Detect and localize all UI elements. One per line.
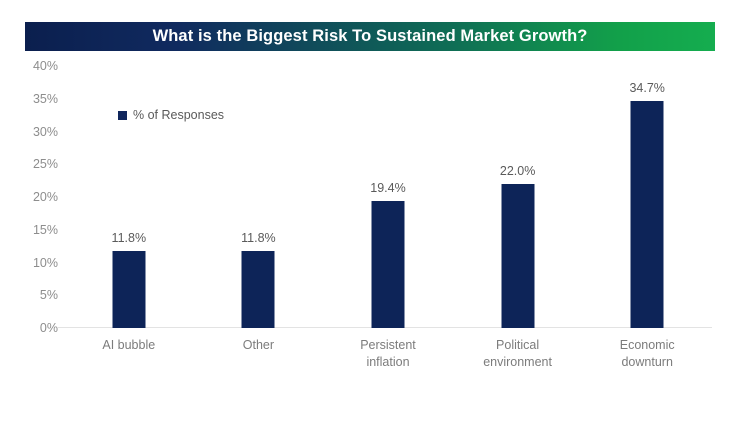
bar-group: 11.8% xyxy=(64,66,194,328)
bar-value-label: 11.8% xyxy=(112,231,147,245)
chart-title-banner: What is the Biggest Risk To Sustained Ma… xyxy=(25,22,715,51)
x-axis-category-label: Politicalenvironment xyxy=(453,337,583,371)
bar-value-label: 11.8% xyxy=(241,231,276,245)
y-axis-tick-label: 30% xyxy=(18,125,58,139)
bar[interactable] xyxy=(631,101,664,328)
y-axis-tick-label: 20% xyxy=(18,190,58,204)
bar-group: 34.7% xyxy=(582,66,712,328)
y-axis-tick-label: 5% xyxy=(18,288,58,302)
chart-legend: % of Responses xyxy=(118,108,224,122)
x-axis-label-line: Other xyxy=(194,337,324,354)
bar[interactable] xyxy=(112,251,145,328)
y-axis-tick-label: 40% xyxy=(18,59,58,73)
y-axis-tick-label: 25% xyxy=(18,157,58,171)
x-axis-category-label: Other xyxy=(194,337,324,354)
x-axis-category-label: AI bubble xyxy=(64,337,194,354)
y-axis-tick-label: 0% xyxy=(18,321,58,335)
x-axis: AI bubbleOtherPersistentinflationPolitic… xyxy=(64,337,712,397)
bar-group: 22.0% xyxy=(453,66,583,328)
x-axis-label-line: environment xyxy=(453,354,583,371)
x-axis-label-line: downturn xyxy=(582,354,712,371)
x-axis-label-line: Economic xyxy=(582,337,712,354)
legend-swatch-icon xyxy=(118,111,127,120)
bar-group: 11.8% xyxy=(194,66,324,328)
bar[interactable] xyxy=(501,184,534,328)
bar-value-label: 19.4% xyxy=(370,181,405,195)
y-axis: 0%5%10%15%20%25%30%35%40% xyxy=(18,66,58,328)
bar[interactable] xyxy=(242,251,275,328)
x-axis-category-label: Economicdownturn xyxy=(582,337,712,371)
y-axis-tick-label: 35% xyxy=(18,92,58,106)
x-axis-category-label: Persistentinflation xyxy=(323,337,453,371)
legend-label: % of Responses xyxy=(133,108,224,122)
y-axis-tick-label: 10% xyxy=(18,256,58,270)
chart-title: What is the Biggest Risk To Sustained Ma… xyxy=(153,28,588,45)
x-axis-label-line: Political xyxy=(453,337,583,354)
bar-value-label: 34.7% xyxy=(629,81,664,95)
bars-layer: 11.8%11.8%19.4%22.0%34.7% xyxy=(64,66,712,328)
bar-value-label: 22.0% xyxy=(500,164,535,178)
x-axis-label-line: AI bubble xyxy=(64,337,194,354)
y-axis-tick-label: 15% xyxy=(18,223,58,237)
bar-group: 19.4% xyxy=(323,66,453,328)
plot-area: 11.8%11.8%19.4%22.0%34.7% xyxy=(64,66,712,328)
bar-chart-figure: What is the Biggest Risk To Sustained Ma… xyxy=(0,0,731,426)
x-axis-label-line: Persistent xyxy=(323,337,453,354)
bar[interactable] xyxy=(371,201,404,328)
x-axis-label-line: inflation xyxy=(323,354,453,371)
